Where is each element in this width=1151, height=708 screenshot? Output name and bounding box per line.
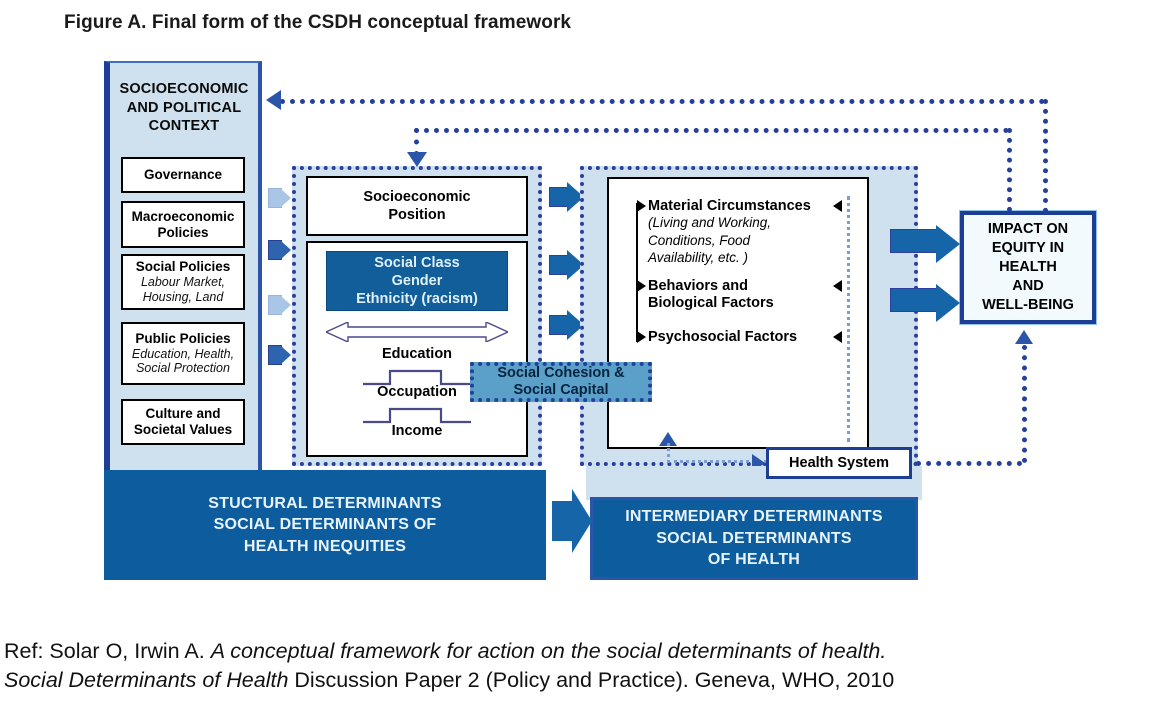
public-policies-sub-2: Social Protection [136,361,230,376]
structural-bar-line2: SOCIAL DETERMINANTS OF [208,514,441,536]
socioeconomic-political-context-heading: SOCIOECONOMIC AND POLITICAL CONTEXT [110,80,258,136]
feedback-line-1-vertical [1043,99,1048,213]
arrow-up-into-impact [1015,330,1033,344]
impact-line3: HEALTH [982,258,1074,277]
social-class-line3: Ethnicity (racism) [356,290,478,308]
social-policies-sub-2: Housing, Land [143,290,224,305]
structural-box-social-policies[interactable]: Social Policies Labour Market, Housing, … [121,254,245,310]
health-system-box[interactable]: Health System [766,447,912,479]
dotted-line-intermediary-right [847,196,850,442]
reference-italic-1: A conceptual framework for action on the… [211,639,887,663]
block-arrow-to-impact-2 [890,281,962,319]
reference-italic-2: Social Determinants of Health [4,668,288,692]
socioeconomic-position-header-box[interactable]: Socioeconomic Position [306,176,528,236]
intermediary-bracket [636,203,638,342]
intermediary-item-behaviors-biological[interactable]: Behaviors and Biological Factors [648,278,848,313]
reference-prefix: Ref: Solar O, Irwin A. [4,639,211,663]
reference-suffix: Discussion Paper 2 (Policy and Practice)… [288,668,894,692]
material-circumstances-detail-1: (Living and Working, [648,215,771,230]
arrowhead-in-behaviors [833,280,842,292]
macroeconomic-policies-label-1: Macroeconomic [132,209,235,225]
impact-line5: WELL-BEING [982,296,1074,315]
double-headed-arrow-icon [326,322,508,347]
dotted-line-health-stem [667,443,670,463]
arrowhead-in-psychosocial [833,331,842,343]
impact-line4: AND [982,277,1074,296]
context-heading-line2: AND POLITICAL [110,99,258,118]
intermediary-bar-line3: OF HEALTH [625,549,882,571]
behaviors-title-2: Biological Factors [648,295,848,312]
structural-box-governance[interactable]: Governance [121,157,245,193]
governance-label: Governance [144,167,222,183]
intermediary-determinants-bar: INTERMEDIARY DETERMINANTS SOCIAL DETERMI… [590,497,918,580]
psychosocial-title: Psychosocial Factors [648,329,858,346]
context-heading-line3: CONTEXT [110,117,258,136]
impact-line2: EQUITY IN [982,239,1074,258]
cohesion-line1: Social Cohesion & [497,365,624,382]
feedback-line-2-vertical-right [1007,128,1012,212]
social-policies-label: Social Policies [136,259,231,275]
culture-label-1: Culture and [145,406,220,422]
structural-bar-line3: HEALTH INEQUITIES [208,536,441,558]
social-class-gender-ethnicity-box[interactable]: Social Class Gender Ethnicity (racism) [326,251,508,311]
structural-box-culture-societal-values[interactable]: Culture and Societal Values [121,399,245,445]
ladder-label-income: Income [306,423,528,439]
cohesion-line2: Social Capital [497,382,624,399]
macroeconomic-policies-label-2: Policies [157,225,208,241]
arrowhead-behaviors [637,280,646,292]
social-class-line2: Gender [356,272,478,290]
dotted-line-health-to-impact-h [916,461,1022,466]
arrowhead-psychosocial [637,331,646,343]
social-class-line1: Social Class [356,254,478,272]
reference-citation: Ref: Solar O, Irwin A. A conceptual fram… [4,637,1149,694]
material-circumstances-detail-3: Availability, etc. ) [648,250,748,265]
feedback-arrow-to-sep [407,152,427,167]
public-policies-label: Public Policies [135,331,230,347]
arrowhead-material-circumstances [637,200,646,212]
block-arrow-to-impact-1 [890,222,962,260]
intermediary-item-material-circumstances[interactable]: Material Circumstances (Living and Worki… [648,198,848,268]
intermediary-bar-line2: SOCIAL DETERMINANTS [625,528,882,550]
structural-box-public-policies[interactable]: Public Policies Education, Health, Socia… [121,322,245,385]
material-circumstances-title: Material Circumstances [648,198,848,215]
public-policies-sub-1: Education, Health, [132,347,234,362]
feedback-line-2-horizontal [414,128,1009,133]
material-circumstances-detail-2: Conditions, Food [648,233,750,248]
context-heading-line1: SOCIOECONOMIC [110,80,258,99]
figure-canvas: Figure A. Final form of the CSDH concept… [0,0,1151,708]
block-arrow-structural-to-intermediary [552,489,592,553]
behaviors-title-1: Behaviors and [648,278,848,295]
feedback-line-1-horizontal [280,99,1045,104]
impact-line1: IMPACT ON [982,220,1074,239]
social-cohesion-social-capital-box[interactable]: Social Cohesion & Social Capital [470,362,652,402]
figure-title: Figure A. Final form of the CSDH concept… [64,12,571,34]
culture-label-2: Societal Values [134,422,232,438]
impact-on-equity-box[interactable]: IMPACT ON EQUITY IN HEALTH AND WELL-BEIN… [960,211,1096,324]
intermediary-bar-line1: INTERMEDIARY DETERMINANTS [625,506,882,528]
health-system-label: Health System [789,455,889,471]
social-policies-sub-1: Labour Market, [141,275,225,290]
arrowhead-in-material-circumstances [833,200,842,212]
feedback-arrow-to-context [266,90,281,110]
structural-determinants-bar: STUCTURAL DETERMINANTS SOCIAL DETERMINAN… [104,470,546,580]
sep-header-line1: Socioeconomic [363,188,470,206]
structural-bar-line1: STUCTURAL DETERMINANTS [208,493,441,515]
dotted-line-health-to-impact-v [1022,345,1027,463]
structural-box-macroeconomic-policies[interactable]: Macroeconomic Policies [121,201,245,248]
sep-header-line2: Position [363,206,470,224]
intermediary-item-psychosocial[interactable]: Psychosocial Factors [648,329,858,346]
ladder-label-education: Education [306,346,528,362]
